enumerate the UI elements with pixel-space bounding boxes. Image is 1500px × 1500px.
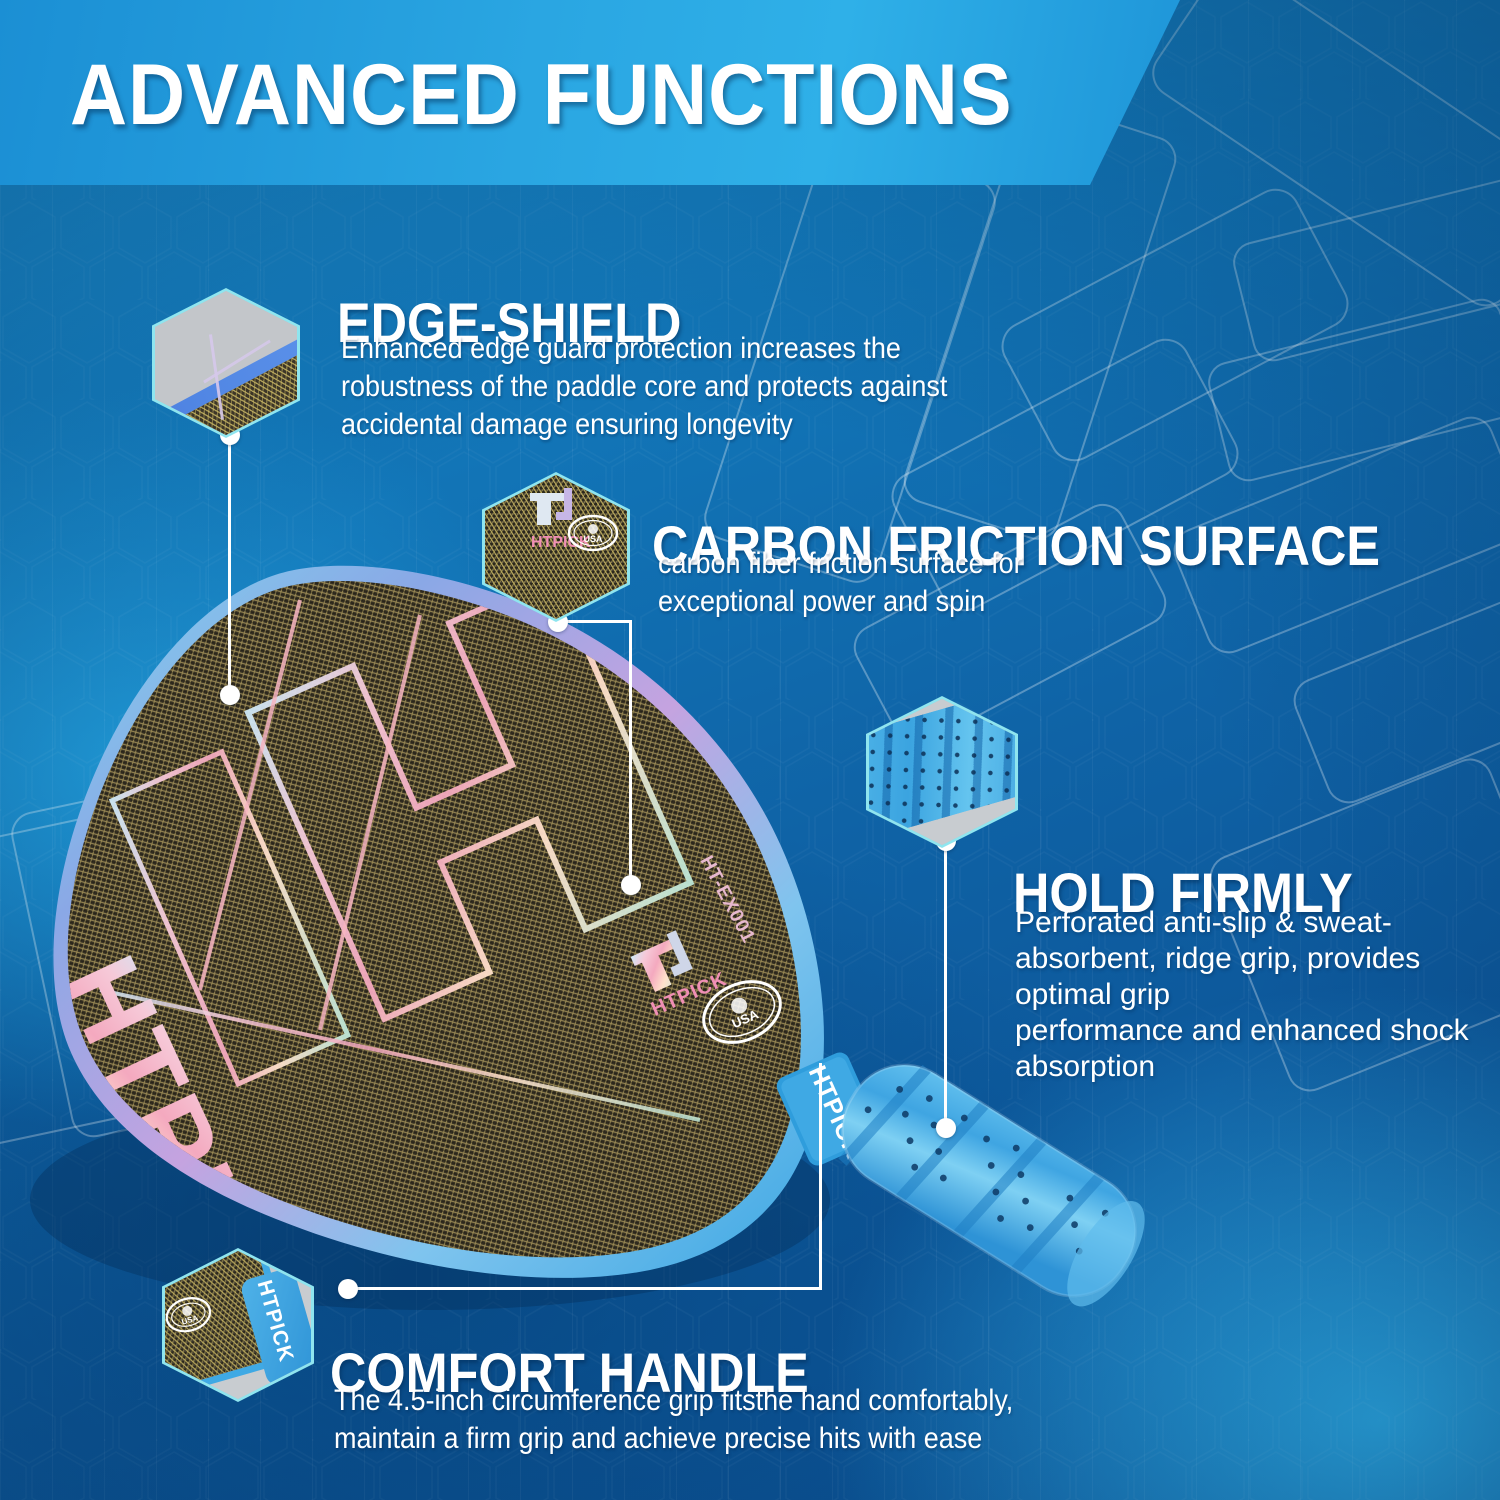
- feature-body-line: The 4.5-inch circumference grip fitsthe …: [334, 1382, 1144, 1420]
- thumbnail-handle-wordmark: HTPICK: [253, 1278, 298, 1365]
- infographic-canvas: ADVANCED FUNCTIONS: [0, 0, 1500, 1500]
- connector-line-carbon-v: [629, 620, 632, 885]
- connector-dot-carbon-target: [621, 875, 641, 895]
- feature-body-line: absorbent, ridge grip, provides: [1015, 941, 1500, 977]
- page-title: ADVANCED FUNCTIONS: [70, 46, 1013, 145]
- feature-body-line: exceptional power and spin: [658, 583, 1288, 621]
- feature-body-line: optimal grip: [1015, 977, 1500, 1013]
- connector-line-hold-firmly: [944, 838, 947, 1128]
- connector-dot-comfort-hex: [338, 1279, 358, 1299]
- connector-line-comfort-v: [819, 1063, 822, 1290]
- feature-body-line: accidental damage ensuring longevity: [341, 406, 1061, 444]
- connector-line-edge-shield: [228, 430, 231, 698]
- connector-dot-hold-firmly-target: [936, 1118, 956, 1138]
- feature-body-line: Perforated anti-slip & sweat-: [1015, 905, 1500, 941]
- connector-dot-edge-shield-target: [220, 685, 240, 705]
- feature-body-line: carbon fiber friction surface for: [658, 545, 1288, 583]
- feature-body-hold-firmly: Perforated anti-slip & sweat- absorbent,…: [1015, 905, 1500, 1085]
- feature-body-comfort-handle: The 4.5-inch circumference grip fitsthe …: [334, 1382, 1144, 1458]
- feature-body-line: Enhanced edge guard protection increases…: [341, 330, 1061, 368]
- feature-body-line: performance and enhanced shock: [1015, 1013, 1500, 1049]
- feature-body-line: maintain a firm grip and achieve precise…: [334, 1420, 1144, 1458]
- feature-body-carbon-friction-surface: carbon fiber friction surface for except…: [658, 545, 1288, 621]
- feature-body-edge-shield: Enhanced edge guard protection increases…: [341, 330, 1061, 443]
- feature-body-line: robustness of the paddle core and protec…: [341, 368, 1061, 406]
- feature-body-line: absorption: [1015, 1049, 1500, 1085]
- connector-line-comfort-h: [350, 1287, 822, 1290]
- svg-text:USA: USA: [583, 534, 603, 544]
